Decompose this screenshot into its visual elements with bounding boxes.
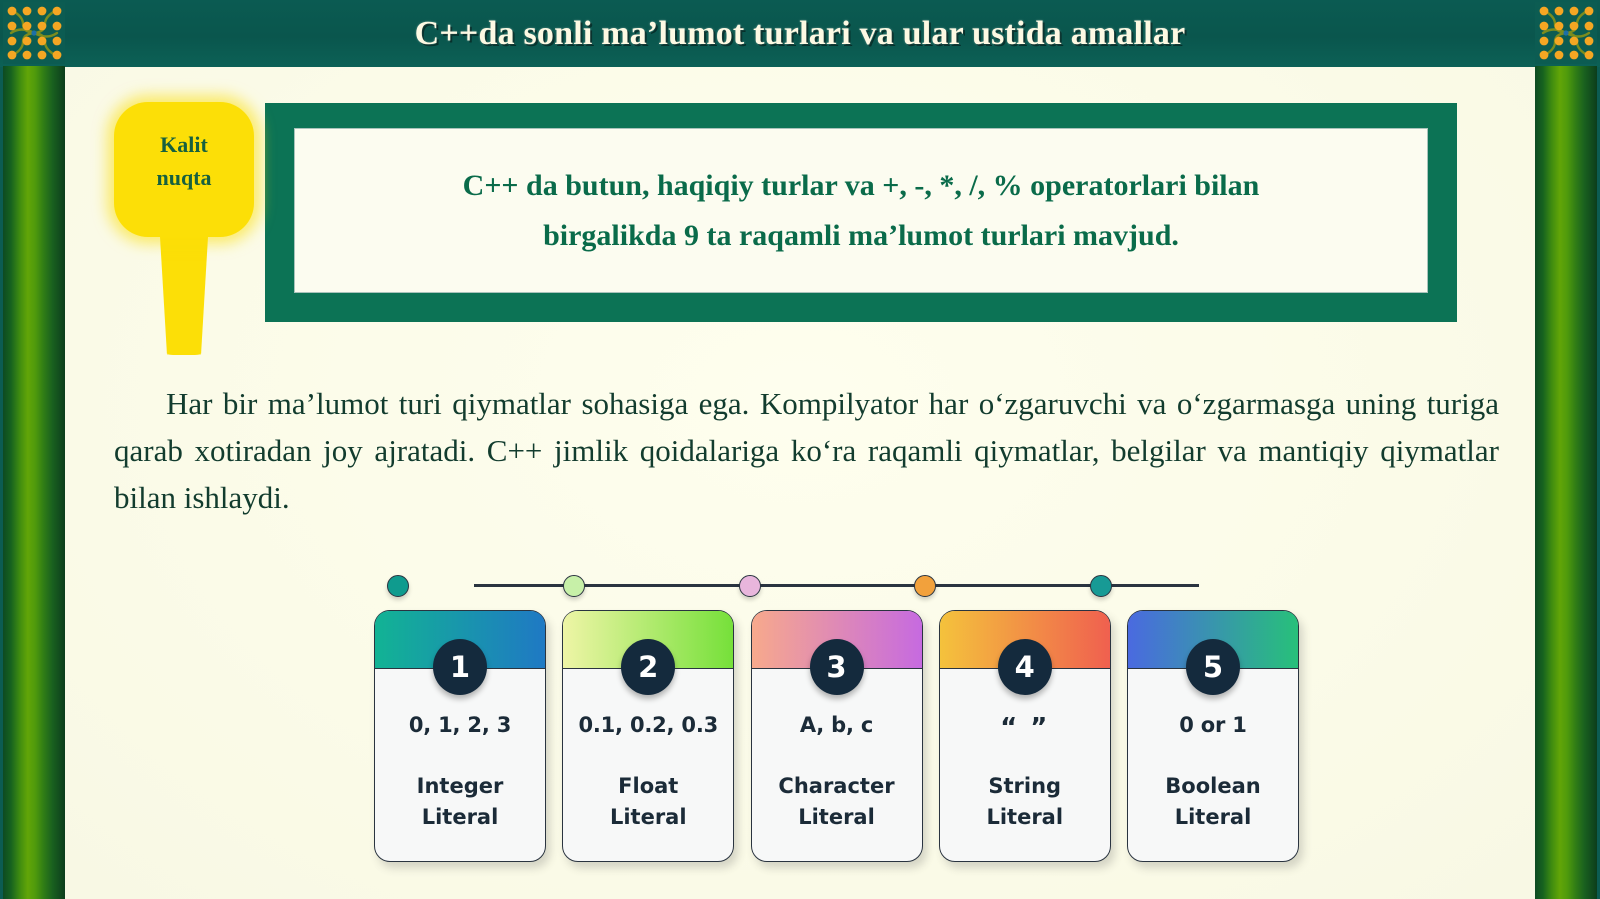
body-paragraph: Har bir ma’lumot turi qiymatlar sohasiga… [114,380,1499,521]
literal-card-boolean[interactable]: 5 0 or 1 Boolean Literal [1127,610,1299,862]
card-number-badge-1: 1 [433,639,487,695]
card-number-badge-4: 4 [998,639,1052,695]
pin-stem [159,220,209,355]
literal-card-character[interactable]: 3 A, b, c Character Literal [751,610,923,862]
literal-types-infographic: 1 0, 1, 2, 3 Integer Literal 2 0.1, 0.2,… [374,562,1299,872]
card-value-5: 0 or 1 [1128,713,1298,737]
callout-line-1: C++ da butun, haqiqiy turlar va +, -, *,… [463,169,1260,202]
card-name-1: Integer Literal [375,771,545,833]
slide-root: C++da sonli ma’lumot turlari va ular ust… [0,0,1600,899]
card-name-4-line-1: String [940,771,1110,802]
card-name-5: Boolean Literal [1128,771,1298,833]
card-number-badge-2: 2 [621,639,675,695]
card-number-badge-3: 3 [810,639,864,695]
left-green-pillar [3,66,65,899]
card-name-5-line-1: Boolean [1128,771,1298,802]
card-value-1: 0, 1, 2, 3 [375,713,545,737]
page-title: C++da sonli ma’lumot turlari va ular ust… [415,15,1186,53]
timeline-dot-2 [563,575,585,597]
callout-line-2: birgalikda 9 ta raqamli ma’lumot turlari… [543,219,1179,252]
card-name-3: Character Literal [752,771,922,833]
right-green-pillar [1535,66,1597,899]
card-name-2-line-1: Float [563,771,733,802]
literal-card-integer[interactable]: 1 0, 1, 2, 3 Integer Literal [374,610,546,862]
card-name-5-line-2: Literal [1128,802,1298,833]
ornament-tile-left [3,2,65,64]
key-point-line-2: nuqta [114,161,254,194]
key-point-line-1: Kalit [114,128,254,161]
card-value-3: A, b, c [752,713,922,737]
card-name-4: String Literal [940,771,1110,833]
card-value-4: “ ” [940,713,1110,743]
key-point-label: Kalit nuqta [114,128,254,194]
card-number-badge-5: 5 [1186,639,1240,695]
card-name-4-line-2: Literal [940,802,1110,833]
key-point-callout-box: C++ da butun, haqiqiy turlar va +, -, *,… [265,103,1457,322]
card-name-1-line-2: Literal [375,802,545,833]
card-name-2-line-2: Literal [563,802,733,833]
timeline-dot-5 [1090,575,1112,597]
card-name-2: Float Literal [563,771,733,833]
card-name-3-line-1: Character [752,771,922,802]
literal-card-string[interactable]: 4 “ ” String Literal [939,610,1111,862]
key-point-pin: Kalit nuqta [114,102,254,357]
card-name-1-line-1: Integer [375,771,545,802]
slide-header-bar: C++da sonli ma’lumot turlari va ular ust… [0,0,1600,67]
timeline-dot-3 [739,575,761,597]
ornament-tile-right [1535,2,1597,64]
infographic-timeline [374,562,1299,610]
literal-cards-row: 1 0, 1, 2, 3 Integer Literal 2 0.1, 0.2,… [374,610,1299,872]
card-name-3-line-2: Literal [752,802,922,833]
right-ornament-panel [1534,0,1600,899]
callout-inner-panel: C++ da butun, haqiqiy turlar va +, -, *,… [294,128,1428,293]
slide-content-canvas: Kalit nuqta C++ da butun, haqiqiy turlar… [64,67,1536,899]
left-ornament-panel [0,0,66,899]
callout-text: C++ da butun, haqiqiy turlar va +, -, *,… [463,161,1260,261]
timeline-dot-1 [387,575,409,597]
timeline-dot-4 [914,575,936,597]
card-value-2: 0.1, 0.2, 0.3 [563,713,733,737]
literal-card-float[interactable]: 2 0.1, 0.2, 0.3 Float Literal [562,610,734,862]
